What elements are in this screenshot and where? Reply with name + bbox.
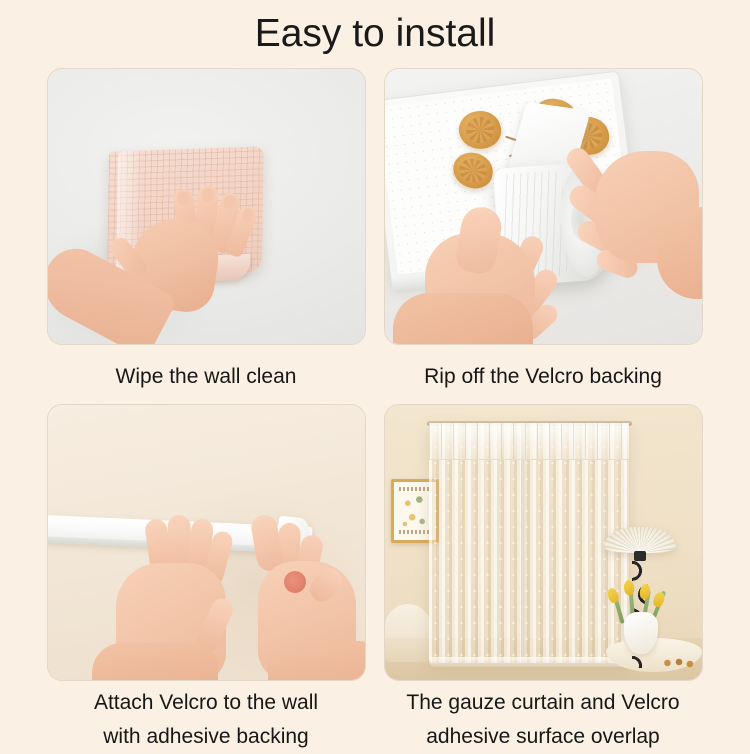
pulling-hand-right (232, 509, 366, 681)
holding-hand-left (403, 217, 583, 345)
forearm (393, 293, 533, 345)
step-caption-4-line2: adhesive surface overlap (378, 720, 708, 754)
gauze-curtain (429, 423, 629, 663)
step-image-1 (47, 68, 366, 345)
step-caption-4: The gauze curtain and Velcro adhesive su… (378, 686, 708, 754)
pinch-shadow (284, 571, 306, 593)
lamp-shade (604, 527, 676, 553)
step-caption-1: Wipe the wall clean (41, 360, 371, 394)
picture-caption-text (399, 530, 431, 534)
forearm (268, 641, 366, 681)
step-caption-3-line1: Attach Velcro to the wall (41, 686, 371, 720)
product-infographic: Easy to install Wipe the wall clean (0, 0, 750, 750)
step-caption-4-line1: The gauze curtain and Velcro (378, 686, 708, 720)
picture-caption-text (399, 487, 431, 491)
curtain-hem (429, 657, 629, 667)
step-caption-3: Attach Velcro to the wall with adhesive … (41, 686, 371, 754)
step-caption-2: Rip off the Velcro backing (378, 360, 708, 394)
side-stool (385, 604, 431, 662)
curtain-pleats (429, 423, 629, 459)
decorative-nuts (662, 658, 696, 668)
wiping-hand (89, 193, 271, 345)
step-image-3 (47, 404, 366, 681)
page-title: Easy to install (0, 11, 750, 57)
step-image-2 (384, 68, 703, 345)
step-caption-3-line2: with adhesive backing (41, 720, 371, 754)
forearm (92, 643, 218, 681)
step-image-4 (384, 404, 703, 681)
